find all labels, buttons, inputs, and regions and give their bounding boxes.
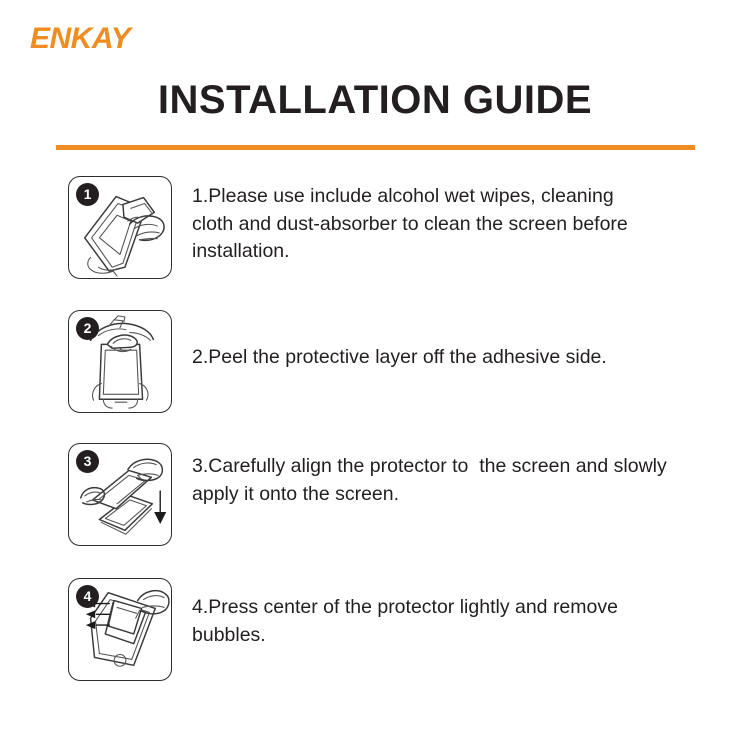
list-item: 2 [0,310,750,413]
list-item: 3 3.Ca [0,443,750,546]
step-4-number-badge: 4 [76,585,99,608]
step-1-number-badge: 1 [76,183,99,206]
title-divider [56,145,695,150]
step-4-illustration: 4 [68,578,172,681]
step-3-illustration: 3 [68,443,172,546]
step-2-text: 2.Peel the protective layer off the adhe… [172,310,750,372]
step-4-text: 4.Press center of the protector lightly … [172,578,750,649]
step-3-text: 3.Carefully align the protector to the s… [172,443,750,508]
page-title: INSTALLATION GUIDE [0,78,750,122]
list-item: 1 1.Please use [0,176,750,279]
step-1-illustration: 1 [68,176,172,279]
step-2-number-badge: 2 [76,317,99,340]
steps-list: 1 1.Please use [0,176,750,681]
brand-logo: ENKAY [30,24,130,54]
step-1-text: 1.Please use include alcohol wet wipes, … [172,176,750,266]
step-3-number-badge: 3 [76,450,99,473]
list-item: 4 [0,578,750,681]
step-2-illustration: 2 [68,310,172,413]
